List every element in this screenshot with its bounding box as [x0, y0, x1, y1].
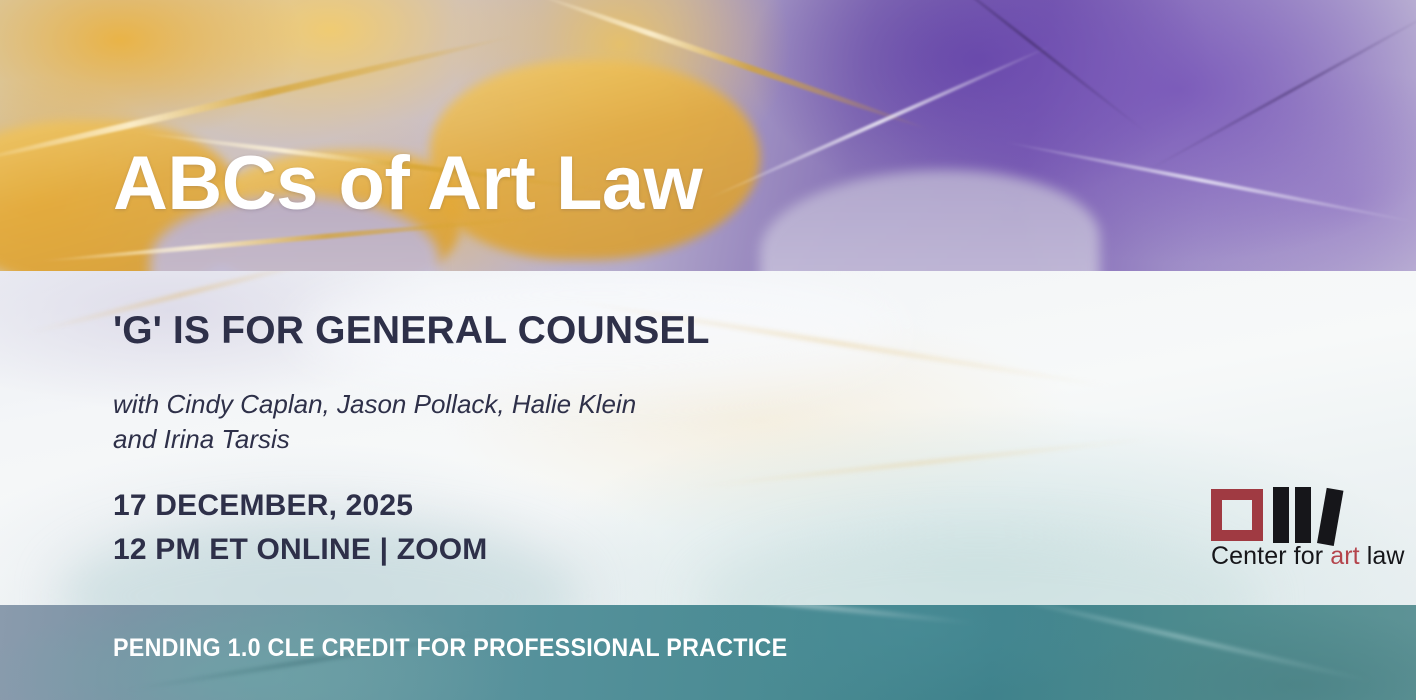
logo-wordmark-accent: art	[1330, 542, 1359, 570]
book-spine-icon	[1273, 487, 1289, 543]
logo-wordmark: Center for art law	[1211, 544, 1405, 569]
subtitle-letter: 'G'	[113, 309, 162, 352]
panel-mist	[700, 531, 1260, 605]
event-title: ABCs of Art Law	[113, 146, 702, 222]
speakers-list: with Cindy Caplan, Jason Pollack, Halie …	[113, 387, 636, 458]
cle-credit-note: PENDING 1.0 CLE CREDIT FOR PROFESSIONAL …	[113, 636, 787, 661]
speakers-line-2: and Irina Tarsis	[113, 422, 636, 457]
logo-wordmark-part2: law	[1360, 542, 1405, 570]
gold-vein	[681, 436, 1159, 490]
center-for-art-law-logo: Center for art law	[1211, 486, 1383, 572]
event-subtitle: 'G' IS FOR GENERAL COUNSEL	[113, 311, 710, 350]
logo-mark-icon	[1211, 486, 1383, 543]
dark-vein	[911, 0, 1149, 135]
dark-vein	[1141, 8, 1416, 175]
book-spine-icon	[1295, 487, 1311, 543]
subtitle-rest: IS FOR GENERAL COUNSEL	[162, 309, 710, 352]
top-marble-band	[0, 0, 1416, 271]
speakers-line-1: with Cindy Caplan, Jason Pollack, Halie …	[113, 387, 636, 422]
square-outline-icon	[1211, 489, 1263, 541]
white-vein	[561, 605, 979, 626]
lavender-marble-shape	[760, 170, 1100, 271]
white-vein	[985, 605, 1376, 684]
event-date: 17 DECEMBER, 2025	[113, 484, 488, 528]
logo-wordmark-part1: Center for	[1211, 542, 1330, 570]
event-banner: ABCs of Art Law 'G' IS FOR GENERAL COUNS…	[0, 0, 1416, 700]
event-time-platform: 12 PM ET ONLINE | ZOOM	[113, 528, 488, 572]
tilted-book-spine-icon	[1317, 488, 1343, 546]
event-details: 17 DECEMBER, 2025 12 PM ET ONLINE | ZOOM	[113, 484, 488, 572]
